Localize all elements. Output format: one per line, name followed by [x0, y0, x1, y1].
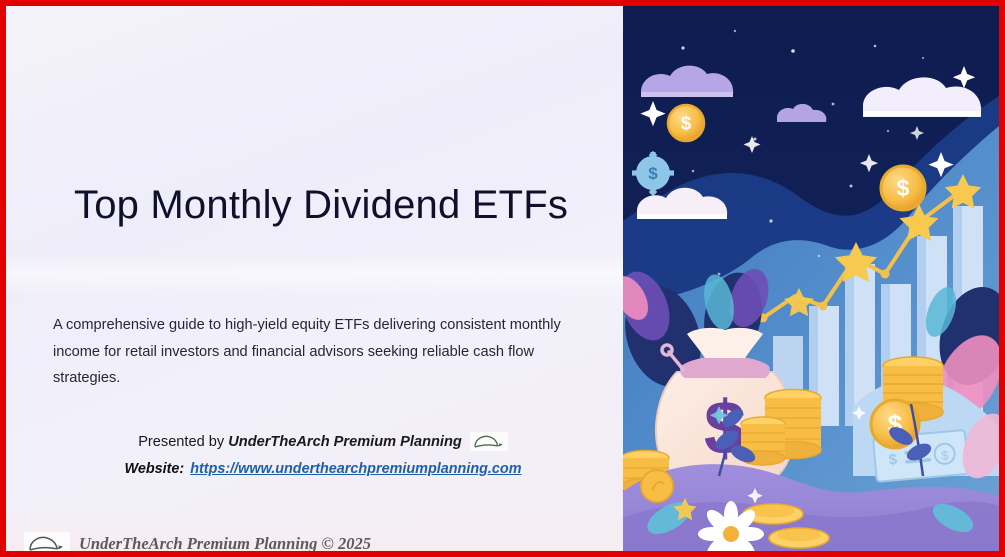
svg-text:$: $ — [648, 164, 658, 183]
arch-logo-icon — [470, 432, 508, 451]
brand-name: UnderTheArch Premium Planning — [228, 434, 462, 450]
slide-subtitle: A comprehensive guide to high-yield equi… — [53, 312, 593, 392]
footer-copyright: UnderTheArch Premium Planning © 2025 — [79, 534, 371, 554]
svg-text:$: $ — [681, 114, 692, 135]
slide-footer: UnderTheArch Premium Planning © 2025 — [6, 505, 623, 551]
presented-by-line: Presented by UnderTheArch Premium Planni… — [53, 431, 593, 453]
svg-text:$: $ — [897, 175, 910, 201]
website-label: Website: — [125, 461, 185, 477]
presentation-slide: Top Monthly Dividend ETFs A comprehensiv… — [0, 0, 1005, 557]
website-line: Website:https://www.underthearchpremiump… — [53, 458, 593, 480]
website-link[interactable]: https://www.underthearchpremiumplanning.… — [190, 461, 521, 477]
footer-arch-logo-icon — [24, 532, 70, 555]
finance-growth-illustration: $ $ — [623, 6, 999, 551]
page-title: Top Monthly Dividend ETFs — [74, 182, 594, 228]
presented-by-prefix: Presented by — [138, 434, 228, 450]
slide-content-pane: Top Monthly Dividend ETFs A comprehensiv… — [6, 6, 623, 551]
